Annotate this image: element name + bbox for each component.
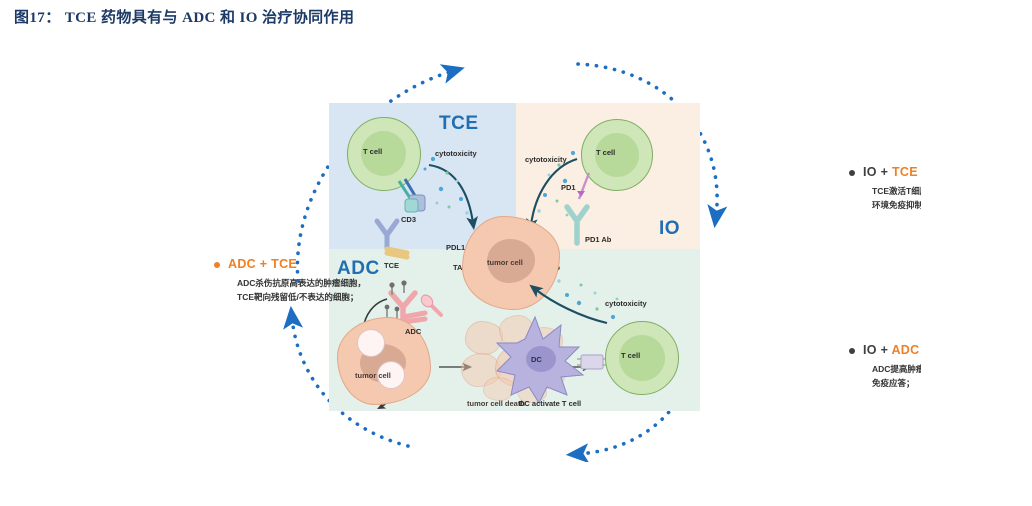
title-bar: 图17： TCE 药物具有与 ADC 和 IO 治疗协同作用 [0,0,1032,34]
note-left-line2: TCE靶向残留低/不表达的细胞； [237,290,366,304]
dc-activate-tcell-label: DC activate T cell [519,399,581,408]
note-io-tce: IO + TCE TCE激活T细胞，IO解除肿瘤微 环境免疫抑制； [863,165,921,212]
note-tr-term-a: IO [863,165,877,179]
note-br-term-b: ADC [891,343,919,357]
bullet-icon-top-right [849,170,855,176]
dc-label: DC [531,355,542,364]
note-io-tce-heading: IO + TCE [863,165,921,179]
note-io-adc: IO + ADC ADC提高肿瘤抗原的释放，增强 免疫应答； [863,343,921,390]
note-tr-line2: 环境免疫抑制； [872,198,921,212]
cytotoxicity-label-dc: cytotoxicity [605,299,647,308]
note-adc-tce-heading: ADC + TCE [228,257,366,271]
note-br-line1: ADC提高肿瘤抗原的释放，增强 [872,362,921,376]
note-left-plus: + [256,257,271,271]
note-adc-tce: ADC + TCE ADC杀伤抗原高表达的肿瘤细胞， TCE靶向残留低/不表达的… [228,257,366,304]
note-left-term-b: TCE [271,257,297,271]
note-tr-line1: TCE激活T细胞，IO解除肿瘤微 [872,184,921,198]
quadrant-panel: TCE IO ADC T cell [329,103,700,411]
bullet-icon-left [214,262,220,268]
note-io-adc-heading: IO + ADC [863,343,921,357]
tcell-dc-label: T cell [621,351,640,360]
note-br-plus: + [877,343,892,357]
tcell-dc [605,321,679,395]
note-left-line1: ADC杀伤抗原高表达的肿瘤细胞， [237,276,366,290]
note-br-term-a: IO [863,343,877,357]
diagram-canvas: TCE IO ADC T cell [108,46,921,462]
figure-page: 图17： TCE 药物具有与 ADC 和 IO 治疗协同作用 [0,0,1032,506]
page-title: 图17： TCE 药物具有与 ADC 和 IO 治疗协同作用 [14,6,354,27]
note-left-term-a: ADC [228,257,256,271]
note-tr-term-b: TCE [892,165,918,179]
note-br-line2: 免疫应答； [872,376,921,390]
bullet-icon-bottom-right [849,348,855,354]
note-tr-plus: + [877,165,892,179]
